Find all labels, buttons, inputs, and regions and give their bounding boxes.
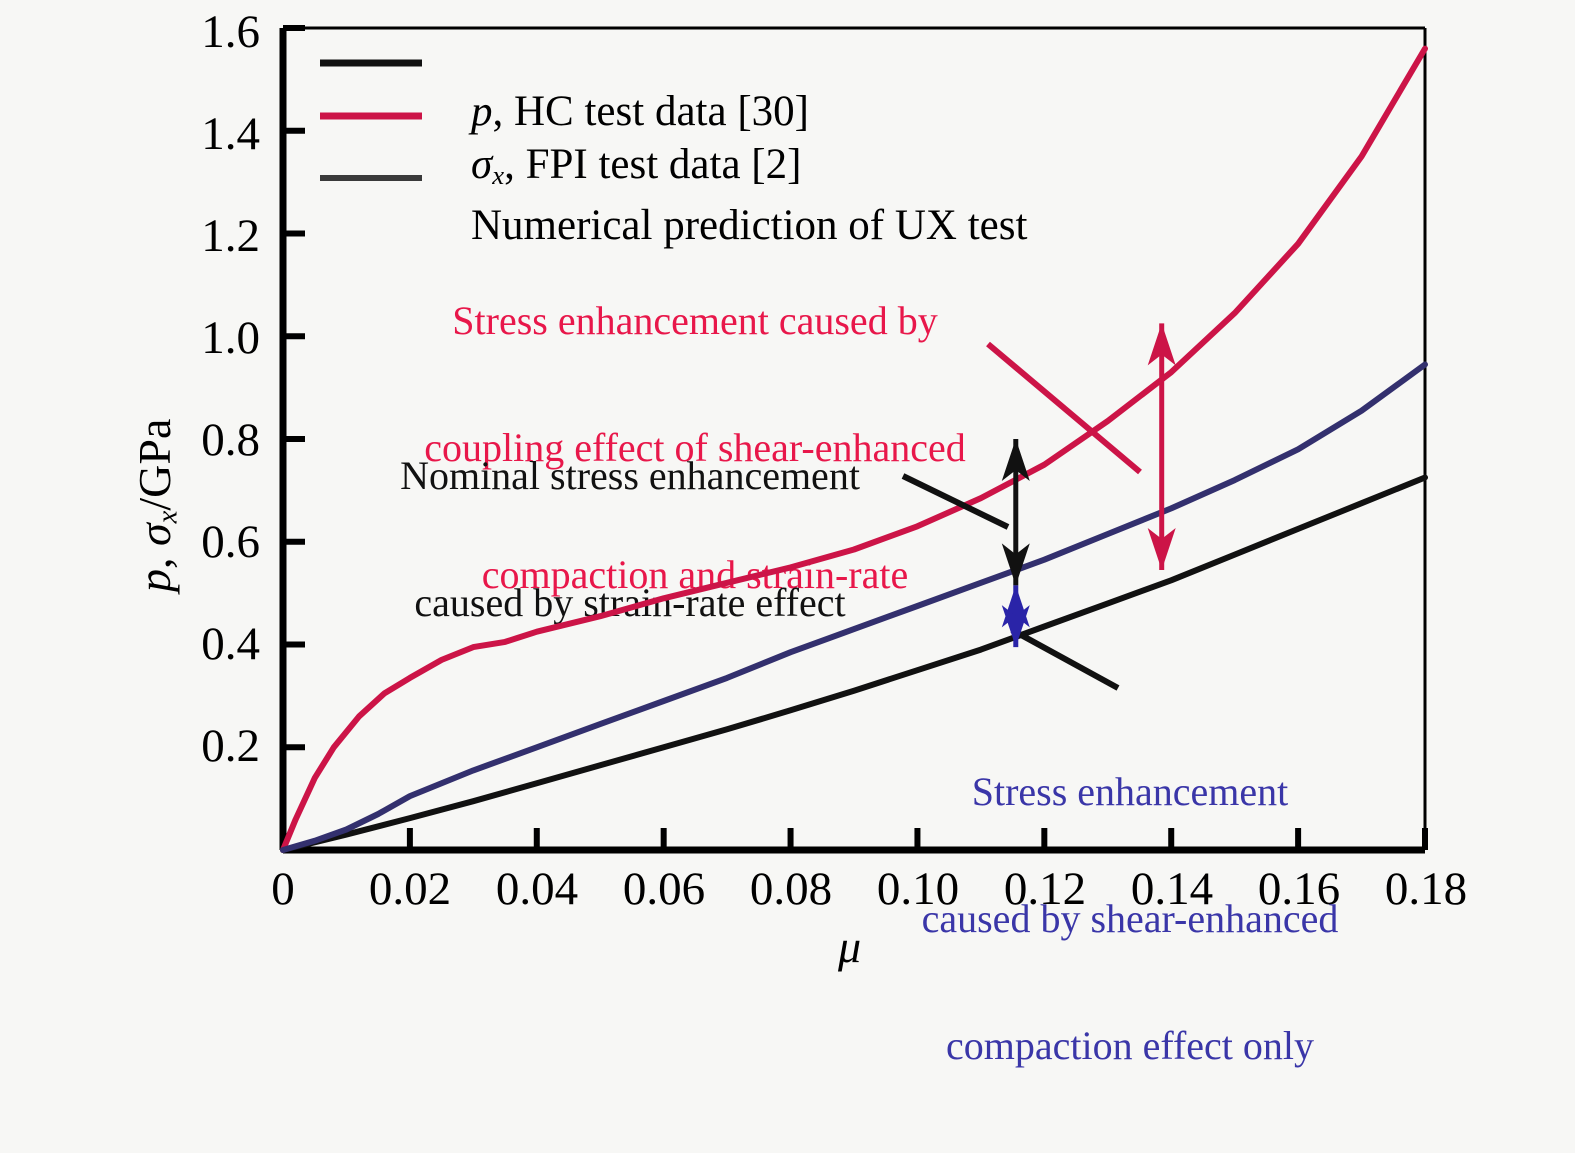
chart-figure: 1.6 1.4 1.2 1.0 0.8 0.6 0.4 0.2 p, σx/GP… <box>0 0 1575 1001</box>
axis-spines <box>283 28 1425 850</box>
red-double-arrow <box>1148 323 1176 570</box>
legend-swatches <box>320 63 422 178</box>
data-curves <box>283 49 1425 850</box>
blue-leader-line <box>1012 630 1118 688</box>
measure-arrows <box>1002 323 1176 647</box>
plot-area <box>0 0 1575 1001</box>
data-curve <box>283 365 1425 851</box>
data-curve <box>283 49 1425 850</box>
black-leader-line <box>903 476 1008 527</box>
data-curve <box>283 478 1425 851</box>
